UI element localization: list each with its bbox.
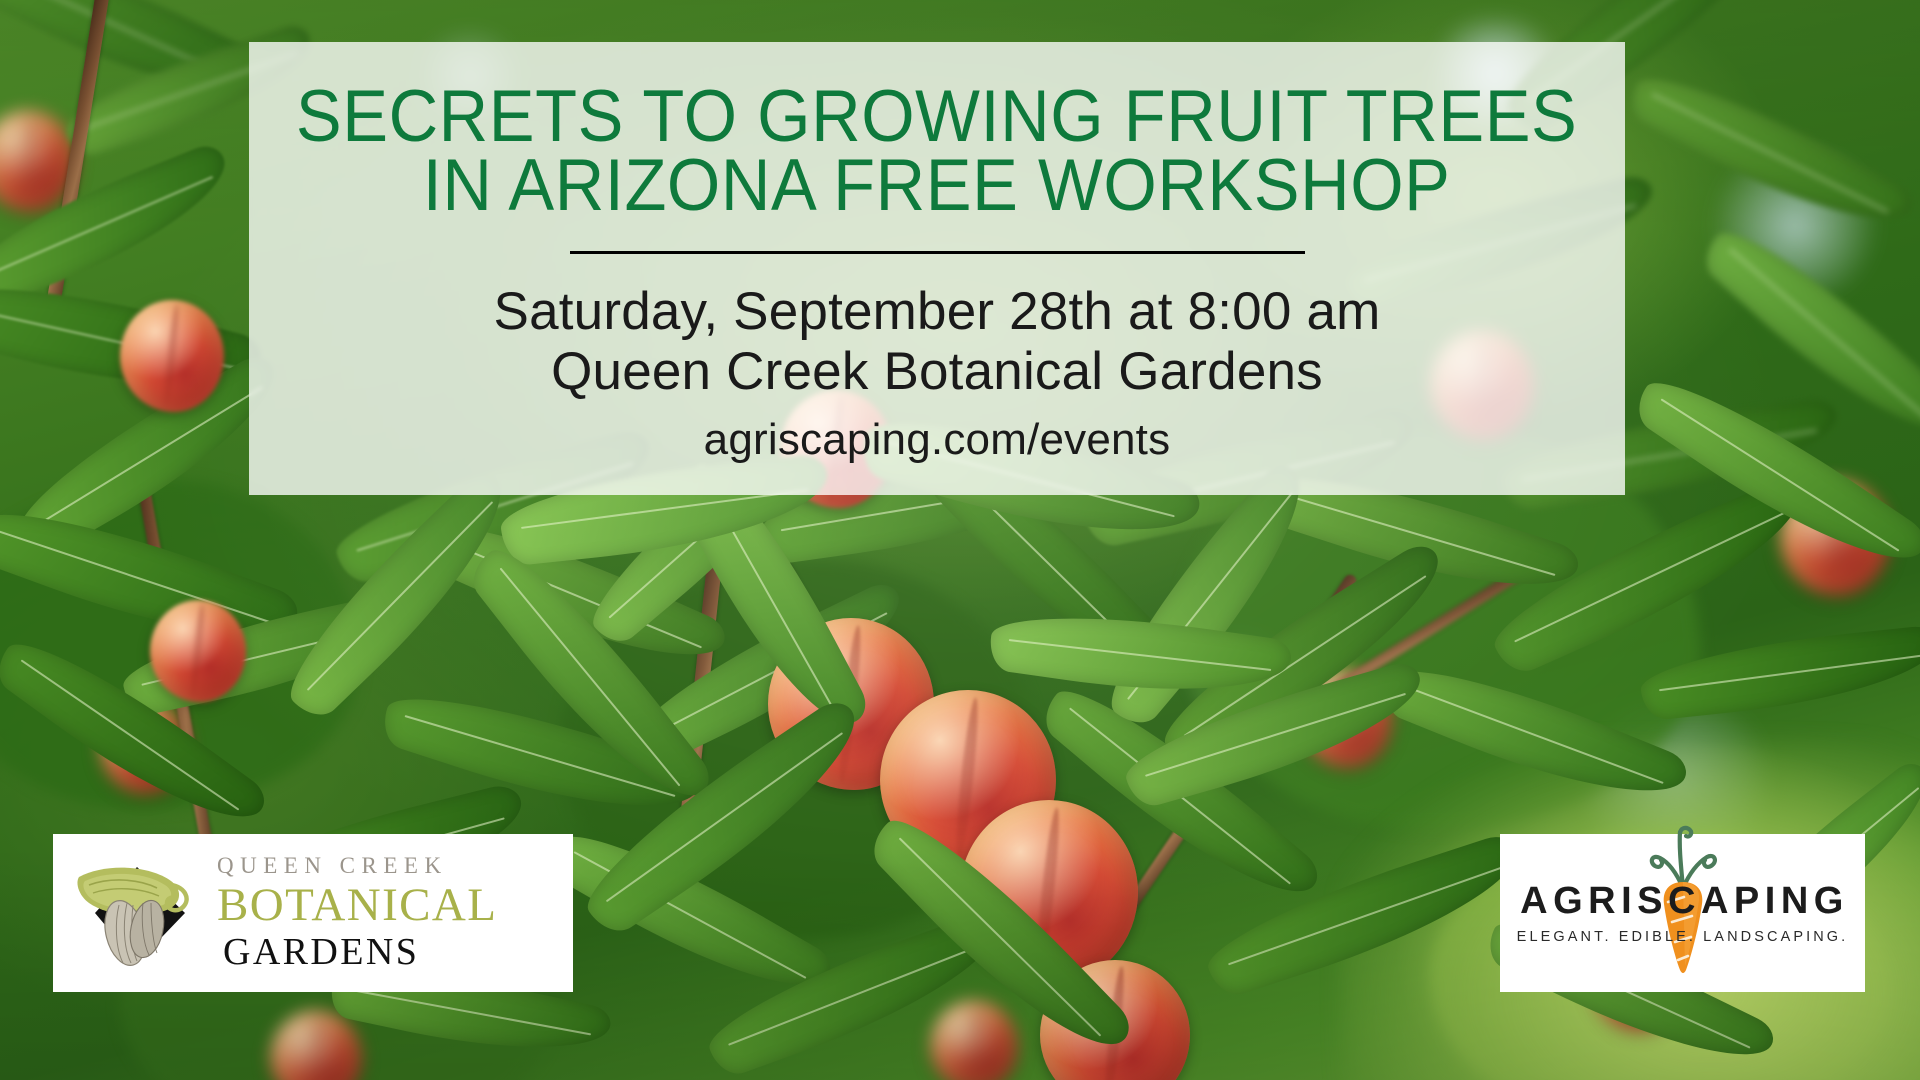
qcbg-line-queen-creek: QUEEN CREEK xyxy=(217,853,497,878)
queen-creek-botanical-gardens-logo[interactable]: QUEEN CREEK BOTANICAL GARDENS xyxy=(53,834,573,992)
headline-line-2: IN ARIZONA FREE WORKSHOP xyxy=(296,151,1577,220)
agriscaping-wordmark: AGRISCAPING xyxy=(1504,882,1865,920)
event-website-url[interactable]: agriscaping.com/events xyxy=(704,411,1171,468)
headline-panel: SECRETS TO GROWING FRUIT TREES IN ARIZON… xyxy=(249,42,1625,495)
peach-fruit xyxy=(120,300,224,412)
agriscaping-tagline: ELEGANT. EDIBLE. LANDSCAPING. xyxy=(1500,929,1865,945)
qcbg-line-gardens: GARDENS xyxy=(223,932,497,972)
peach-fruit xyxy=(150,600,246,702)
agriscaping-logo[interactable]: AGRISCAPING ELEGANT. EDIBLE. LANDSCAPING… xyxy=(1500,834,1865,992)
event-datetime: Saturday, September 28th at 8:00 am xyxy=(494,282,1381,342)
qcbg-line-botanical: BOTANICAL xyxy=(217,881,497,931)
divider-rule xyxy=(570,251,1305,254)
leaf-and-seedpod-diamond-icon xyxy=(75,855,207,971)
page-title: SECRETS TO GROWING FRUIT TREES IN ARIZON… xyxy=(296,82,1577,221)
event-venue: Queen Creek Botanical Gardens xyxy=(551,342,1323,402)
agriscaping-wordmark-post: APING xyxy=(1701,880,1849,922)
agriscaping-wordmark-pre: AGRIS xyxy=(1520,880,1668,922)
agriscaping-wordmark-c: C xyxy=(1668,880,1701,922)
event-flyer: SECRETS TO GROWING FRUIT TREES IN ARIZON… xyxy=(0,0,1920,1080)
